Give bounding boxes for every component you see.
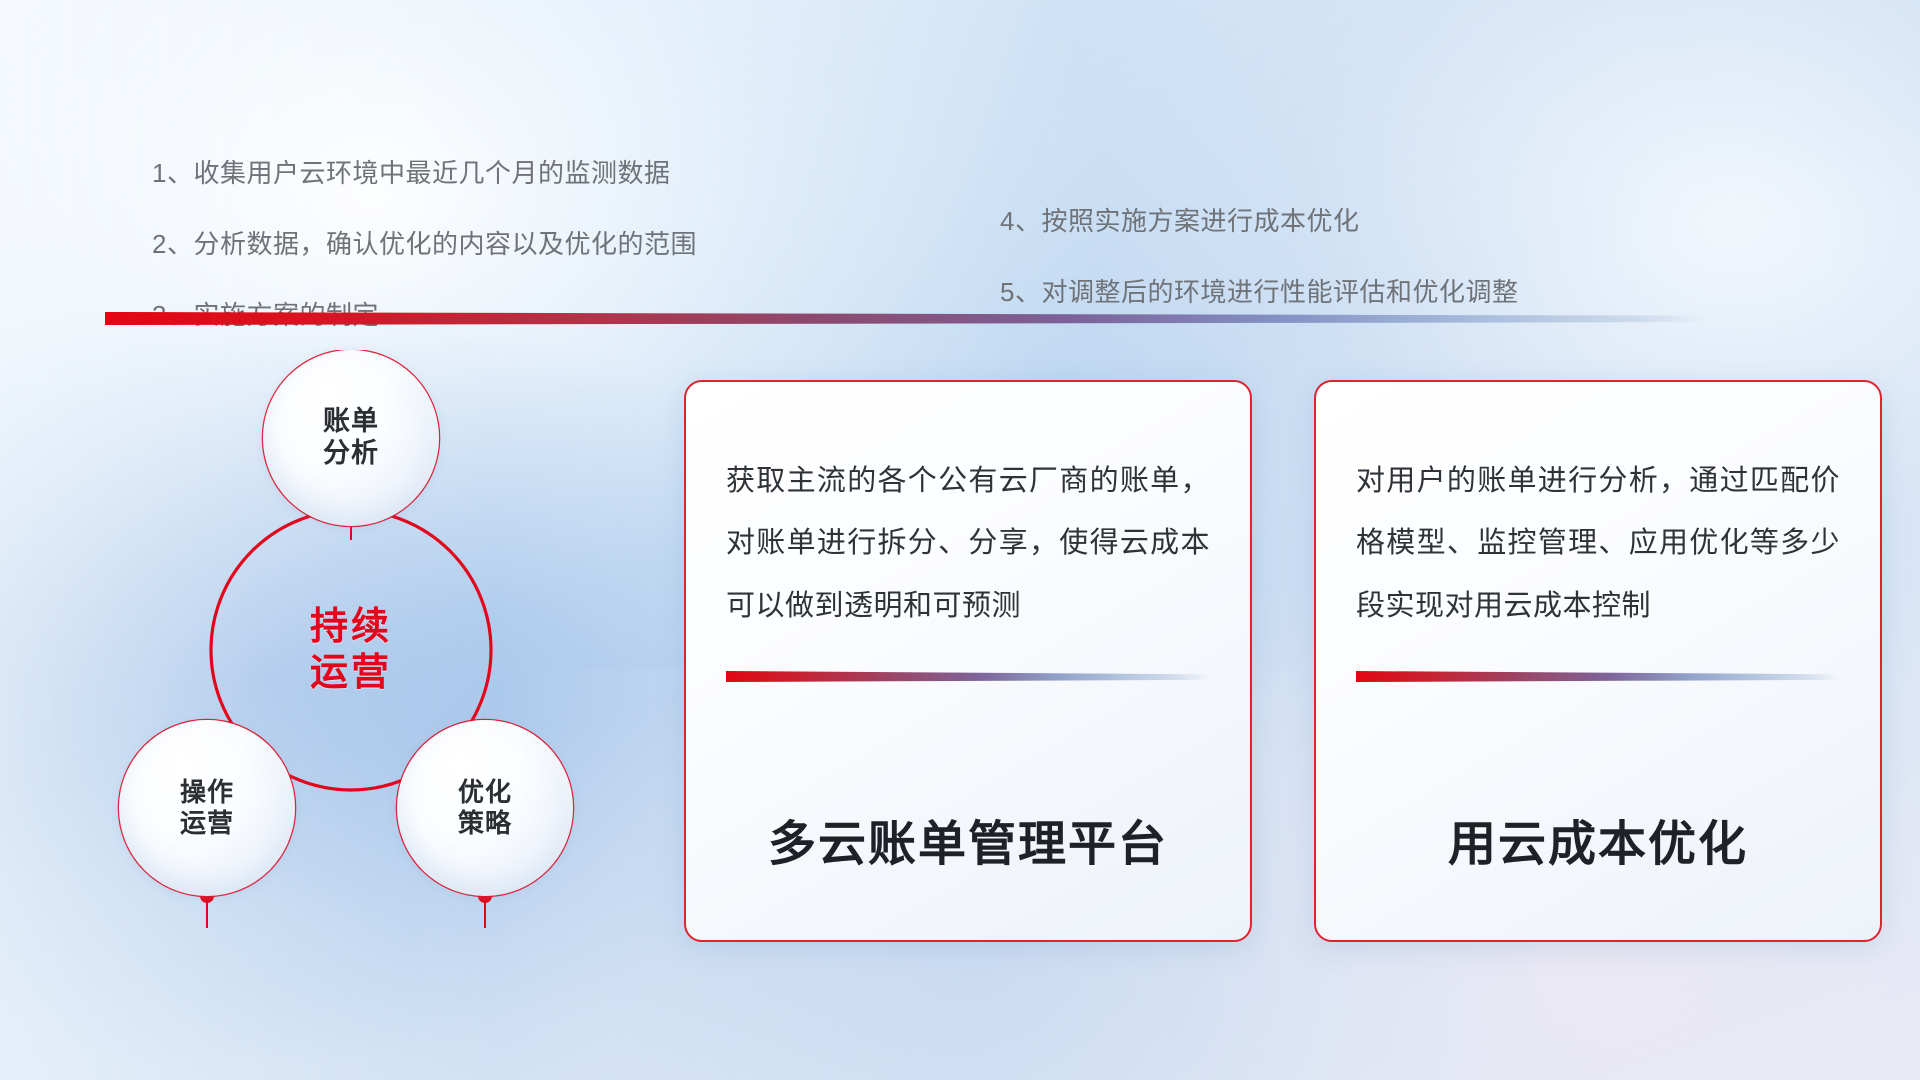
card-body-text: 获取主流的各个公有云厂商的账单，对账单进行拆分、分享，使得云成本可以做到透明和可… [726, 450, 1210, 637]
bubble-operation-management[interactable]: 操作 运营 [119, 720, 295, 896]
card-title: 用云成本优化 [1356, 804, 1840, 874]
card-divider [1356, 671, 1840, 682]
continuous-operation-diagram: 账单 分析 操作 运营 优化 策略 持续 运营 [95, 350, 655, 960]
bubble-operation-management-line1: 操作 [180, 777, 234, 808]
card-cloud-cost-optimization[interactable]: 对用户的账单进行分析，通过匹配价格模型、监控管理、应用优化等多少段实现对用云成本… [1314, 380, 1882, 942]
card-divider-bar [1356, 671, 1840, 682]
step-item-2: 2、分析数据，确认优化的内容以及优化的范围 [152, 231, 697, 257]
step-item-4: 4、按照实施方案进行成本优化 [1000, 208, 1518, 234]
bubble-optimization-strategy-line1: 优化 [458, 777, 512, 808]
bubble-optimization-strategy[interactable]: 优化 策略 [397, 720, 573, 896]
bubble-bill-analysis[interactable]: 账单 分析 [263, 350, 439, 526]
card-divider-bar [726, 671, 1210, 682]
card-body-text: 对用户的账单进行分析，通过匹配价格模型、监控管理、应用优化等多少段实现对用云成本… [1356, 450, 1840, 637]
step-item-5: 5、对调整后的环境进行性能评估和优化调整 [1000, 279, 1518, 305]
section-divider [105, 312, 1705, 325]
bubble-bill-analysis-line2: 分析 [323, 438, 379, 470]
bubble-bill-analysis-line1: 账单 [323, 406, 379, 438]
card-multi-cloud-bill-platform[interactable]: 获取主流的各个公有云厂商的账单，对账单进行拆分、分享，使得云成本可以做到透明和可… [684, 380, 1252, 942]
bubble-optimization-strategy-line2: 策略 [458, 808, 512, 839]
steps-right-column: 4、按照实施方案进行成本优化 5、对调整后的环境进行性能评估和优化调整 [1000, 208, 1518, 350]
steps-left-column: 1、收集用户云环境中最近几个月的监测数据 2、分析数据，确认优化的内容以及优化的… [152, 160, 697, 373]
step-item-1: 1、收集用户云环境中最近几个月的监测数据 [152, 160, 697, 186]
section-divider-bar [105, 312, 1705, 325]
feature-cards: 获取主流的各个公有云厂商的账单，对账单进行拆分、分享，使得云成本可以做到透明和可… [684, 380, 1882, 942]
bubble-operation-management-line2: 运营 [180, 808, 234, 839]
card-title: 多云账单管理平台 [726, 804, 1210, 874]
card-divider [726, 671, 1210, 682]
